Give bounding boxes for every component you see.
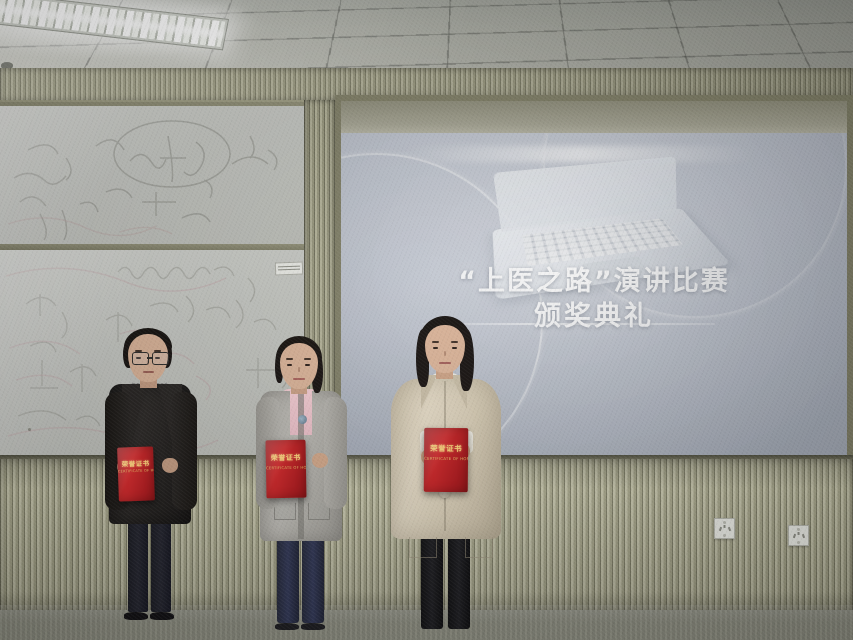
leg-right — [302, 533, 324, 623]
whiteboard-panel-upper — [0, 106, 311, 244]
outlet-slots — [719, 525, 730, 533]
eyebrow-left — [432, 341, 439, 343]
shoe-left — [275, 623, 299, 630]
whiteboard-erased-writing-upper — [0, 106, 311, 244]
screen-unlit-top — [341, 101, 847, 135]
leg-right — [151, 516, 171, 612]
glasses-icon — [132, 352, 166, 364]
head — [128, 334, 168, 382]
glasses-bridge — [147, 357, 153, 359]
shoe-left — [124, 612, 148, 620]
leg-left — [128, 516, 148, 612]
cape-pocket-right — [465, 537, 493, 558]
eyebrow-right — [451, 341, 458, 343]
whiteboard-sticker-label — [275, 262, 303, 276]
eye-left — [433, 347, 438, 349]
leg-left — [277, 533, 299, 623]
eye-right — [305, 364, 310, 366]
mouth — [143, 371, 154, 373]
outlet-screw-top — [723, 521, 726, 524]
eye-left — [287, 364, 292, 366]
ceiling — [0, 0, 853, 72]
legs — [275, 533, 327, 625]
eye-right — [452, 347, 457, 349]
eyebrow-right — [304, 358, 311, 360]
mouth-smiling — [439, 362, 451, 364]
head — [425, 325, 465, 373]
certificate-sheen — [424, 428, 469, 492]
cardigan-pocket-left — [274, 503, 296, 520]
certificate-right: 荣誉证书 CERTIFICATE OF HONOR — [424, 428, 469, 492]
nose — [444, 351, 446, 356]
arm-right — [172, 392, 197, 510]
outlet-screw-top — [797, 528, 800, 531]
hand-right — [162, 458, 178, 473]
mouth-smiling — [293, 378, 305, 380]
hand-right — [312, 453, 328, 468]
shoe-right — [150, 612, 174, 620]
outlet-screw-bottom — [797, 541, 800, 544]
certificate-middle: 荣誉证书 CERTIFICATE OF HONOR — [265, 440, 306, 499]
power-outlet-right[interactable] — [788, 525, 809, 546]
certificate-left: 荣誉证书 CERTIFICATE OF HONOR — [117, 446, 155, 501]
glasses-lens-right — [152, 352, 169, 365]
sticker-lines — [278, 266, 300, 268]
cape-pocket-left — [409, 537, 437, 558]
outlet-screw-bottom — [723, 534, 726, 537]
arm-right — [324, 397, 347, 509]
whiteboard-mark — [28, 428, 31, 431]
power-outlet-left[interactable] — [714, 518, 735, 539]
eyebrow-left — [286, 358, 293, 360]
legs — [126, 516, 174, 614]
shoe-right — [301, 623, 325, 630]
outlet-slots — [793, 532, 804, 540]
nose — [298, 367, 300, 372]
photo-scene: “上医之路”演讲比赛 颁奖典礼 — [0, 0, 853, 640]
certificate-sheen — [265, 440, 306, 499]
certificate-sheen — [117, 446, 155, 501]
